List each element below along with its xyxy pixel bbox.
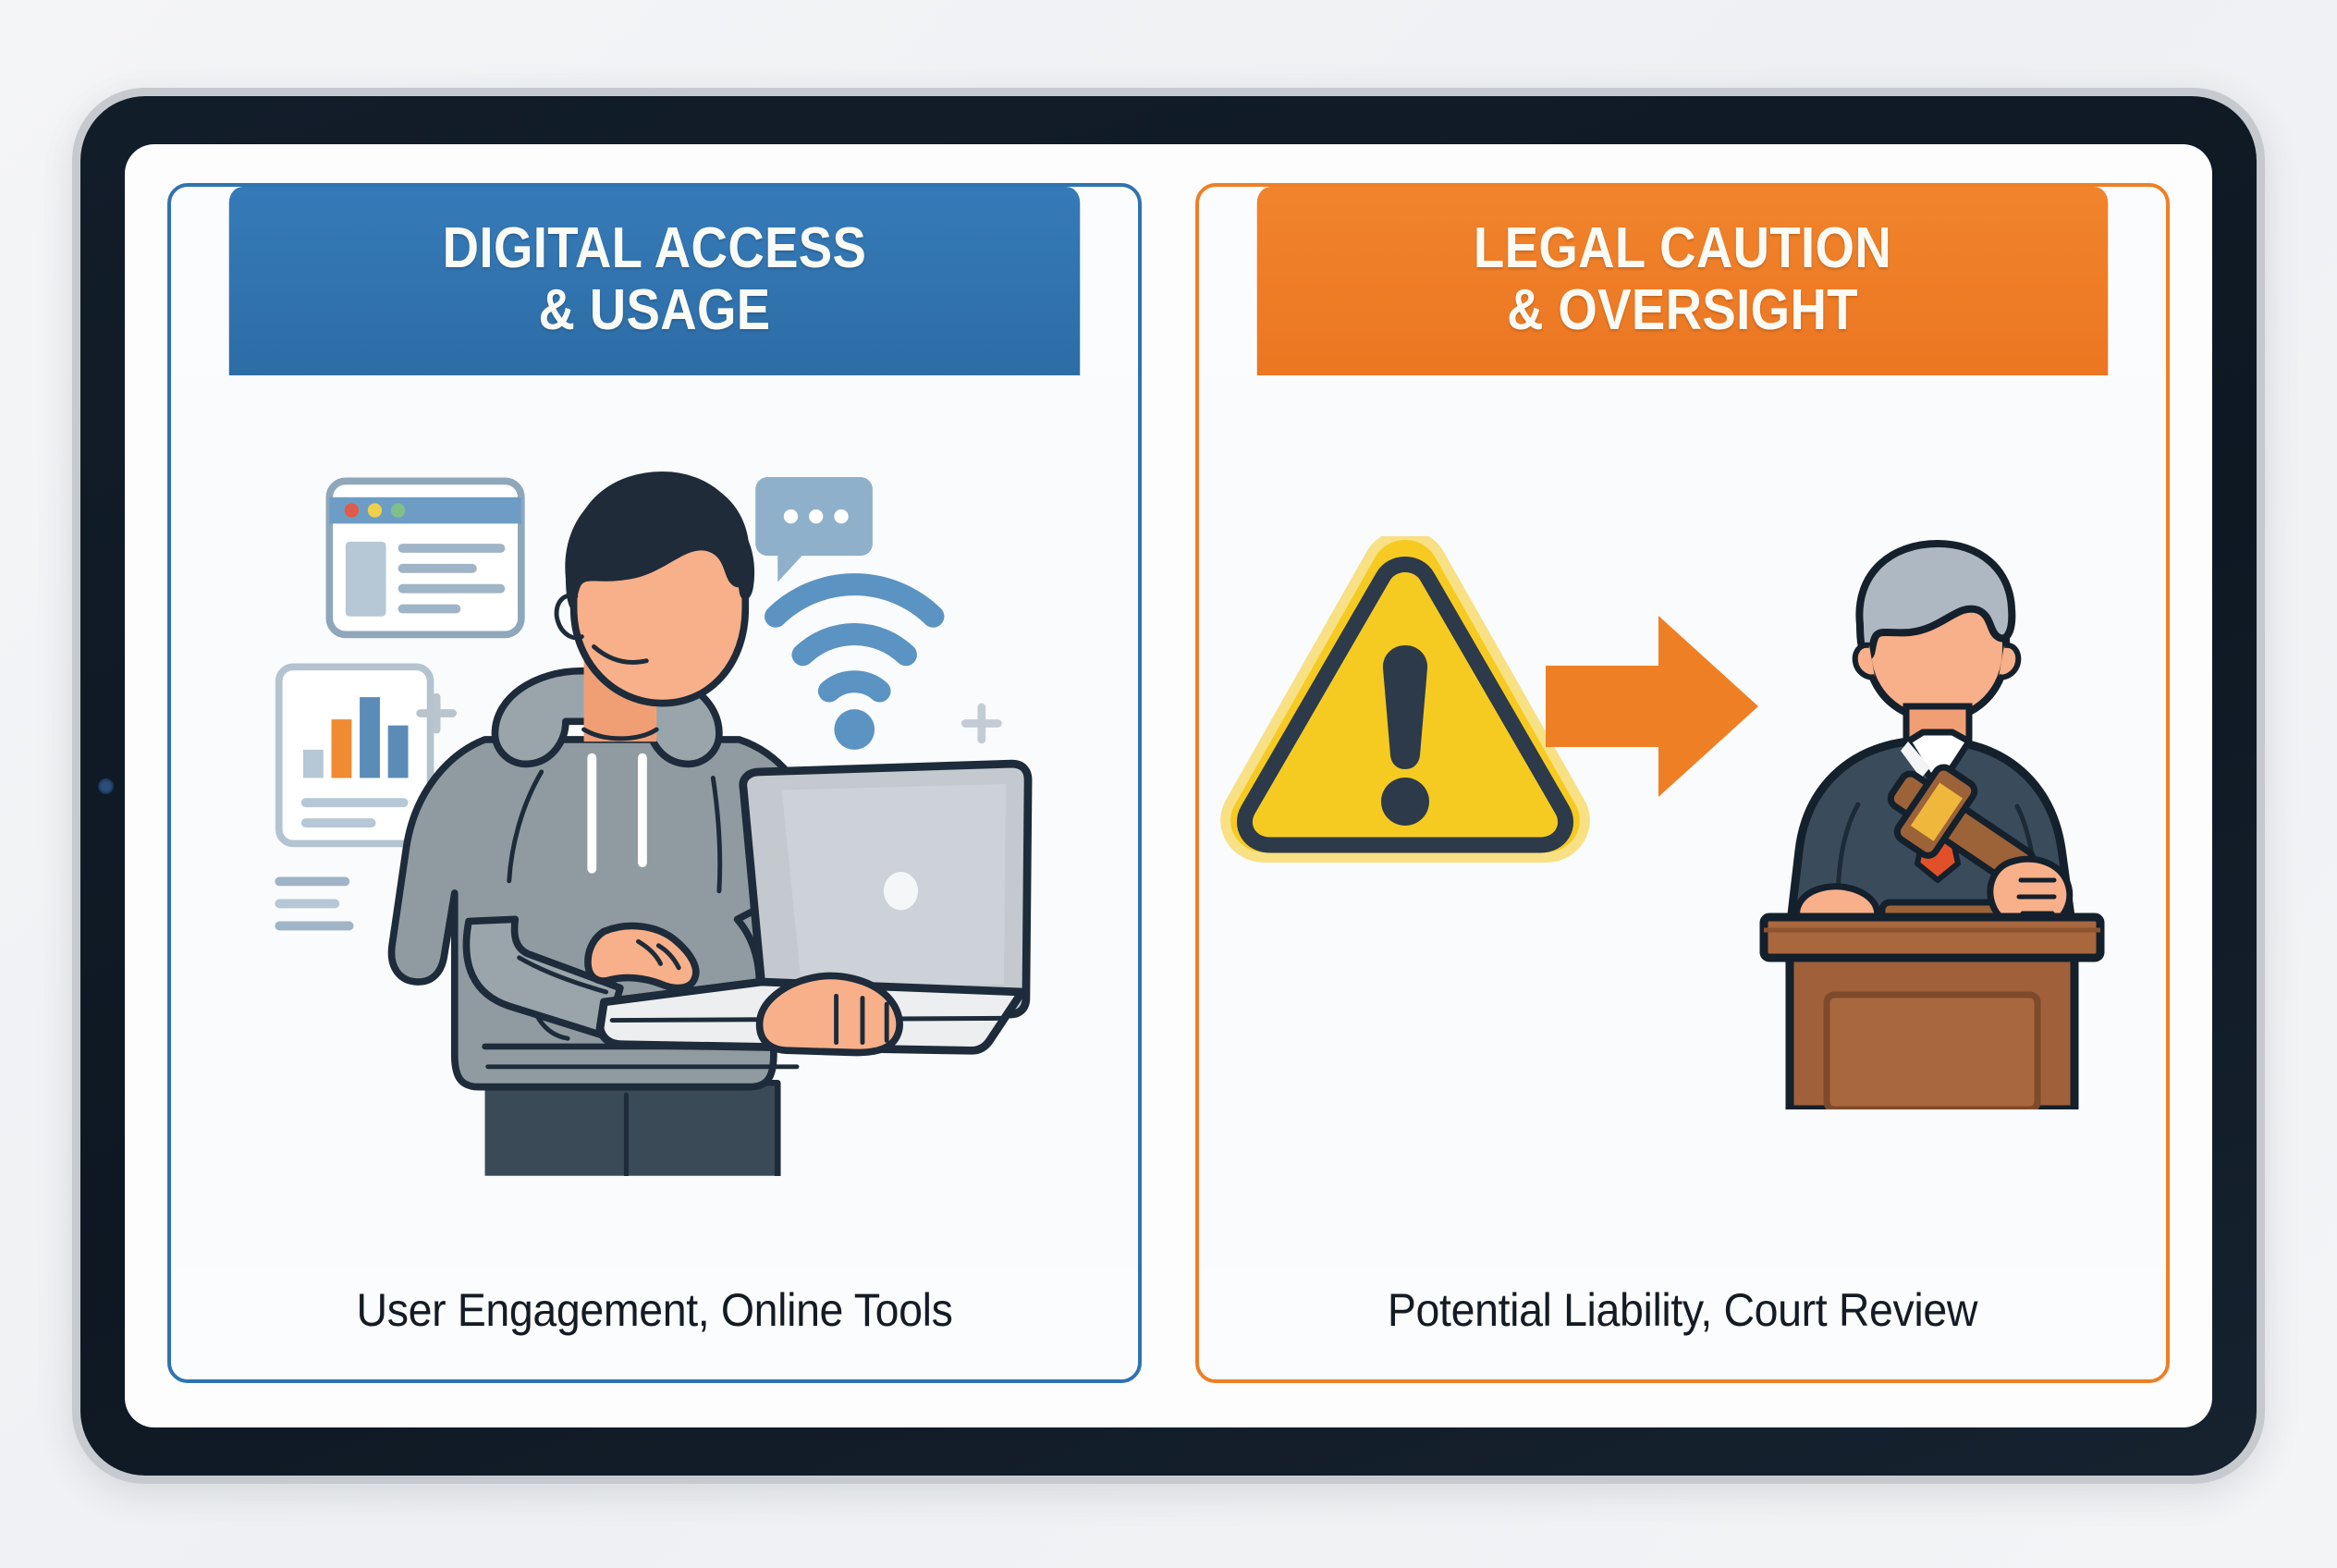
tablet-bezel: DIGITAL ACCESS & USAGE .ln{fill:none;str… [80,96,2257,1476]
chart-document-icon [279,668,431,844]
wifi-dot-icon [834,710,875,751]
panel-body-digital-access: .ln{fill:none;stroke:#1d2b3a;stroke-widt… [171,375,1138,1270]
caption-legal-caution: Potential Liability, Court Review [1233,1270,2133,1379]
header-line-1: DIGITAL ACCESS [245,218,1063,280]
caption-digital-access: User Engagement, Online Tools [205,1270,1105,1379]
panel-container: DIGITAL ACCESS & USAGE .ln{fill:none;str… [125,144,2212,1427]
right-arrow-icon [1546,616,1758,797]
tablet-screen: DIGITAL ACCESS & USAGE .ln{fill:none;str… [125,144,2212,1427]
panel-body-legal-caution [1199,375,2166,1270]
panel-header-legal-caution: LEGAL CAUTION & OVERSIGHT [1257,187,2108,375]
exclamation-dot [1381,778,1429,826]
panel-digital-access[interactable]: DIGITAL ACCESS & USAGE .ln{fill:none;str… [167,183,1142,1383]
camera-dot-icon [98,778,114,794]
header-line-2: & USAGE [245,280,1063,342]
header-line-2: & OVERSIGHT [1273,280,2091,342]
laptop-logo [884,872,918,911]
tablet-device: DIGITAL ACCESS & USAGE .ln{fill:none;str… [72,88,2265,1484]
chat-bubble-icon [755,477,873,582]
screenshot-canvas: DIGITAL ACCESS & USAGE .ln{fill:none;str… [0,0,2337,1568]
warning-triangle-icon [1230,540,1580,852]
holding-hand [760,976,900,1053]
plus-icon [961,704,1002,744]
illustration-person-with-laptop: .ln{fill:none;stroke:#1d2b3a;stroke-widt… [271,469,1038,1176]
text-lines-icon [275,877,353,931]
illustration-warning-arrow-judge [1220,536,2145,1109]
wifi-icon [776,585,933,692]
header-line-1: LEGAL CAUTION [1273,218,2091,280]
panel-header-digital-access: DIGITAL ACCESS & USAGE [229,187,1080,375]
judge-bench [1764,917,2100,1109]
panel-legal-caution[interactable]: LEGAL CAUTION & OVERSIGHT [1195,183,2170,1383]
browser-window-icon [329,482,521,635]
